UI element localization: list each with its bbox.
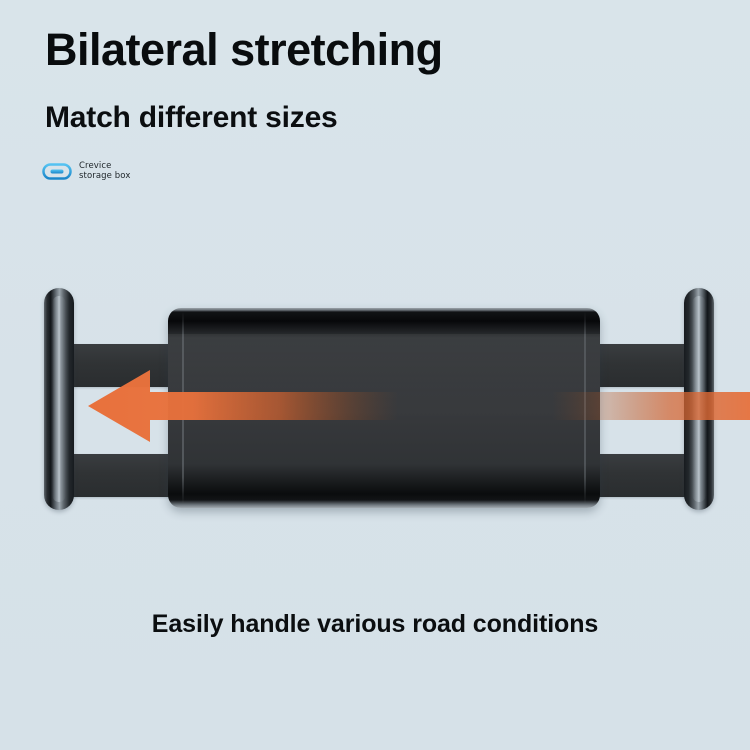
slider-arm-bottom-right [500,454,690,497]
slider-arm-top-left [70,344,250,387]
badge-label-line2: storage box [79,171,130,181]
end-cap-right [684,288,714,510]
feature-badge: Crevice storage box [42,161,130,182]
storage-box-body [168,308,600,508]
badge-label-line1: Crevice [79,161,130,171]
product-feature-poster: Bilateral stretching Match different siz… [0,0,750,750]
end-cap-left-highlight [53,296,66,502]
page-subtitle: Match different sizes [45,101,338,134]
slider-arm-top-right [500,344,690,387]
page-caption: Easily handle various road conditions [0,610,750,639]
crevice-slot-icon [42,163,72,180]
body-gloss-highlight [168,334,600,420]
arrow-right-icon [552,366,750,446]
badge-label: Crevice storage box [79,161,130,182]
body-seam-right [584,312,586,504]
end-cap-left [44,288,74,510]
body-seam-left [182,312,184,504]
end-cap-right-highlight [693,296,706,502]
slider-arm-bottom-left [70,454,250,497]
arrow-left-icon [88,366,398,446]
page-title: Bilateral stretching [45,26,443,73]
